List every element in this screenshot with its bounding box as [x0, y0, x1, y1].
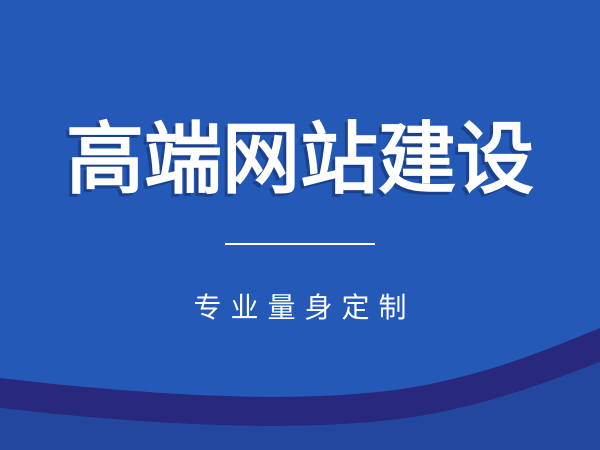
banner-content: 高端网站建设 专业量身定制: [0, 0, 600, 450]
page-subtitle: 专业量身定制: [0, 288, 600, 328]
page-title: 高端网站建设: [0, 113, 600, 205]
title-divider: [225, 243, 375, 245]
promo-banner: 高端网站建设 专业量身定制: [0, 0, 600, 450]
